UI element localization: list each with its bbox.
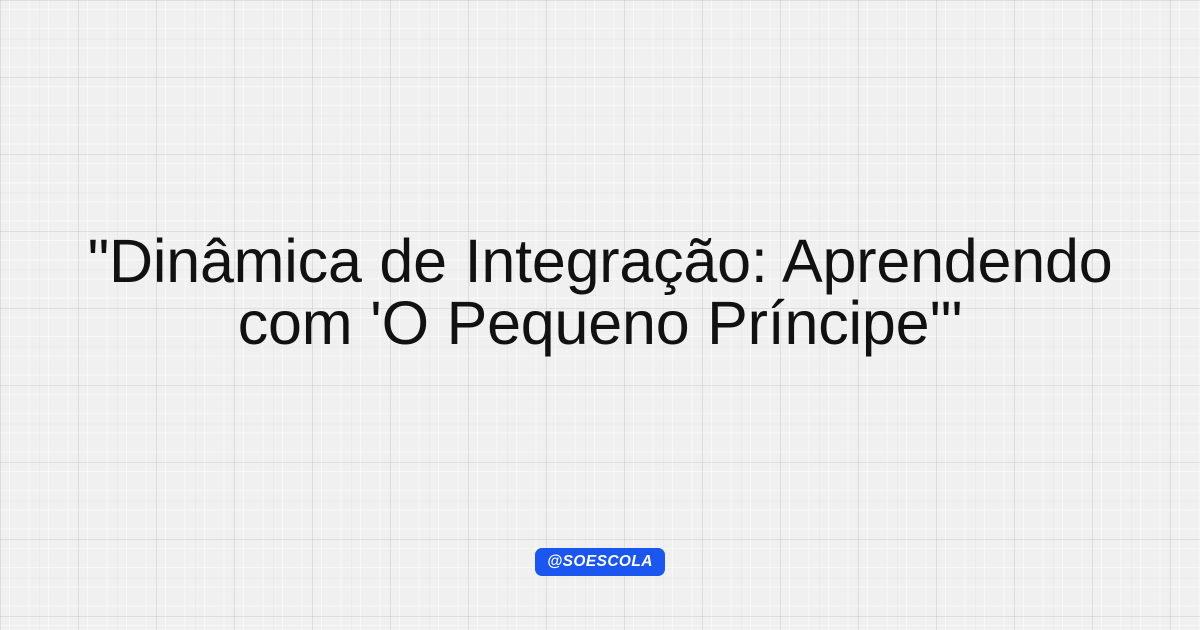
page-title: "Dinâmica de Integração: Aprendendo com … bbox=[28, 230, 1172, 354]
watermark-container: @SOESCOLA bbox=[0, 548, 1200, 577]
poster-canvas: "Dinâmica de Integração: Aprendendo com … bbox=[0, 0, 1200, 630]
title-container: "Dinâmica de Integração: Aprendendo com … bbox=[0, 0, 1200, 630]
watermark-badge: @SOESCOLA bbox=[535, 548, 665, 577]
